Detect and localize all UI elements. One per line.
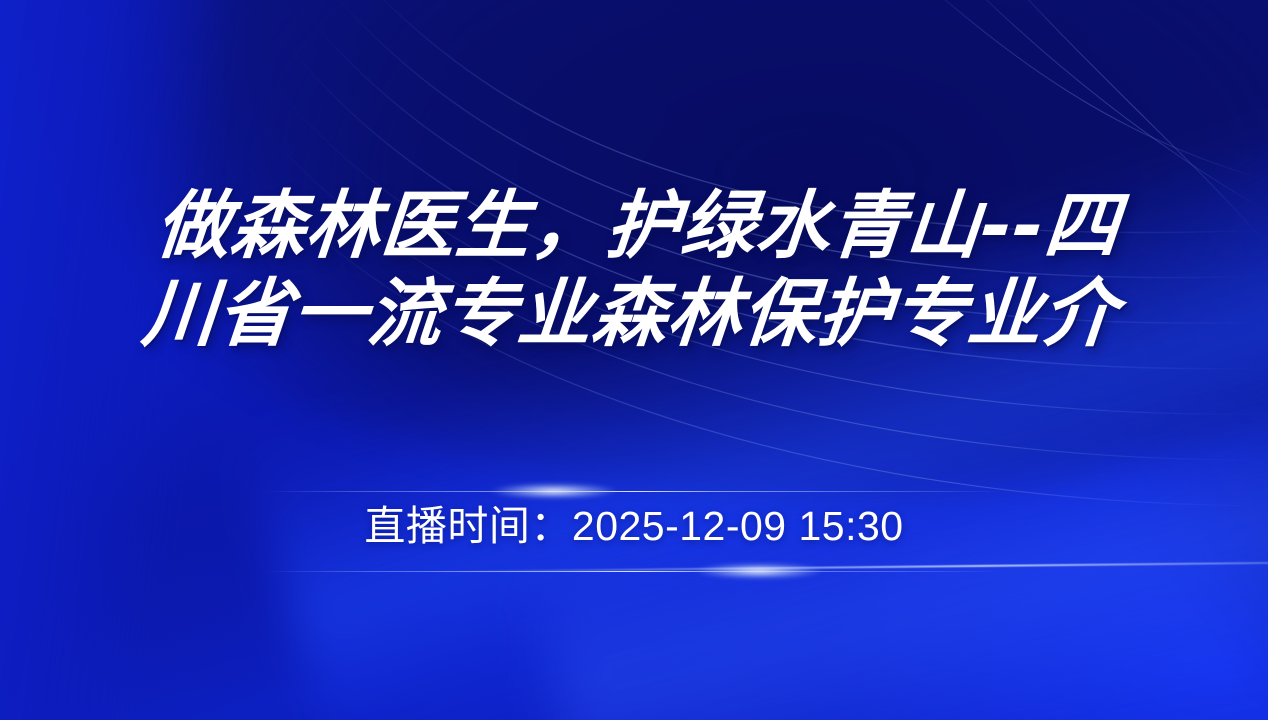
glow-divider-bottom bbox=[264, 570, 1004, 573]
glow-hotspot bbox=[694, 563, 824, 579]
headline-line-2: 川省一流专业森林保护专业介 bbox=[0, 270, 1268, 358]
glow-divider-top bbox=[264, 490, 1004, 493]
background-arc-ribbons bbox=[0, 0, 1268, 720]
broadcast-time-block: 直播时间：2025-12-09 15:30 bbox=[0, 478, 1268, 588]
headline-line-1: 做森林医生，护绿水青山--四 bbox=[0, 182, 1268, 270]
broadcast-time-text: 直播时间：2025-12-09 15:30 bbox=[0, 496, 1268, 556]
poster-headline: 做森林医生，护绿水青山--四 川省一流专业森林保护专业介 bbox=[0, 182, 1268, 358]
glow-streak bbox=[264, 491, 1004, 492]
glow-streak bbox=[264, 571, 1004, 572]
live-stream-poster: 做森林医生，护绿水青山--四 川省一流专业森林保护专业介 直播时间：2025-1… bbox=[0, 0, 1268, 720]
